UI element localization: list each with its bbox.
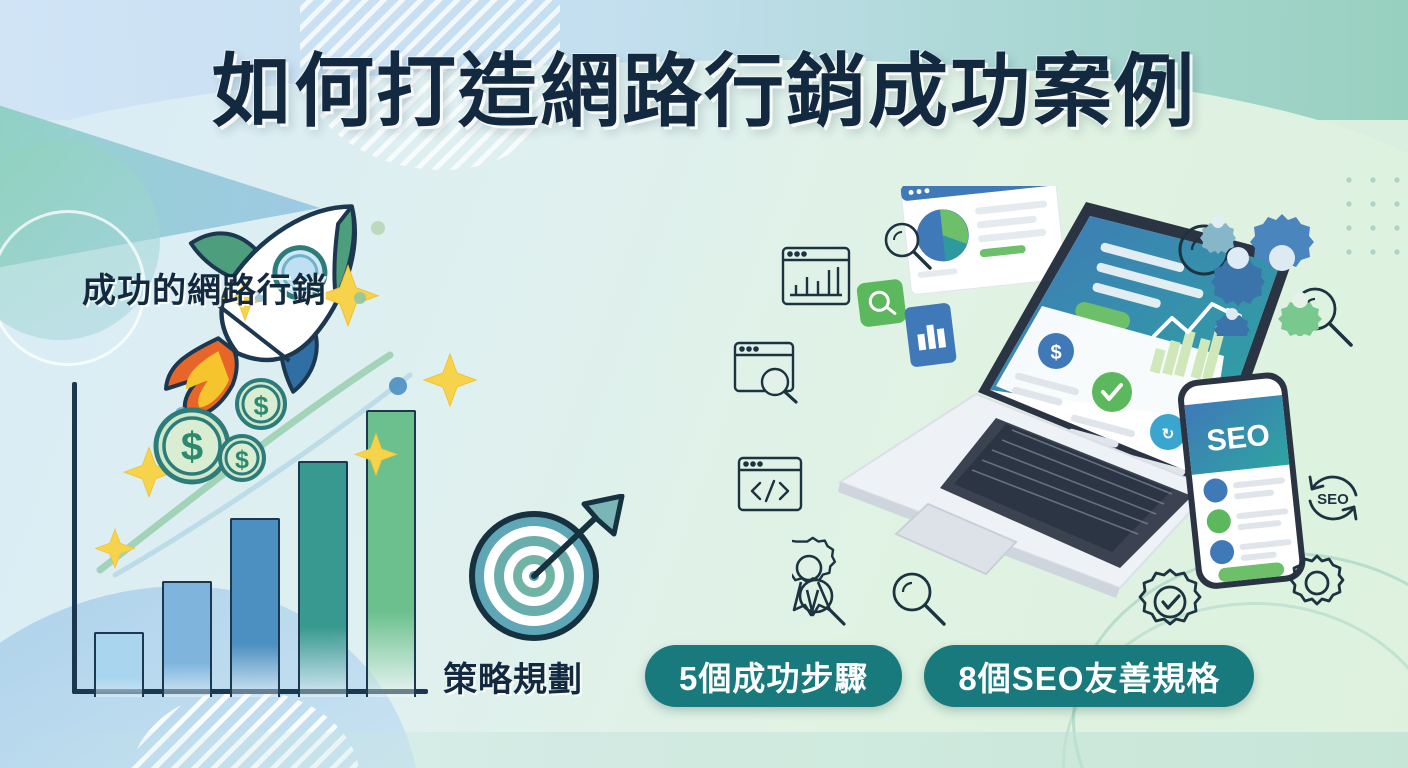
- magnifier-icon: [880, 218, 936, 274]
- marketing-label: 成功的網路行銷: [82, 263, 327, 312]
- svg-text:$: $: [253, 391, 268, 421]
- dollar-coin-icon: $ $ $: [130, 376, 300, 496]
- browser-search-icon: [732, 340, 808, 404]
- browser-code-icon: [736, 455, 804, 513]
- svg-text:↻: ↻: [1162, 426, 1175, 443]
- gear-icon: [1286, 552, 1348, 614]
- badge-pill[interactable]: 5個成功步驟: [645, 645, 902, 707]
- page-title: 如何打造網路行銷成功案例: [0, 52, 1408, 132]
- badge-pill[interactable]: 8個SEO友善規格: [924, 645, 1254, 707]
- badge-pill-group: 5個成功步驟8個SEO友善規格: [645, 645, 1254, 707]
- svg-text:$: $: [235, 446, 249, 474]
- strategy-label: 策略規劃: [443, 652, 583, 701]
- banner-canvas: 如何打造網路行銷成功案例: [0, 0, 1408, 768]
- svg-text:$: $: [181, 425, 203, 469]
- seo-refresh-label: SEO: [1317, 491, 1349, 508]
- bottom-band: [0, 732, 1408, 768]
- chart-bar: [162, 581, 212, 697]
- seo-refresh-icon: SEO: [1300, 465, 1366, 531]
- gear-cluster-icon: [1196, 196, 1336, 336]
- magnifier-icon: [888, 568, 950, 630]
- award-ribbon-icon: [792, 536, 860, 618]
- svg-text:$: $: [1050, 342, 1061, 364]
- browser-bar-chart-icon: [780, 245, 852, 307]
- target-icon: [466, 494, 636, 644]
- gear-check-icon: [1134, 566, 1206, 638]
- chart-bar: [94, 632, 144, 697]
- phone-seo-label: SEO: [1205, 419, 1271, 458]
- dot-grid-decoration: [1337, 168, 1408, 264]
